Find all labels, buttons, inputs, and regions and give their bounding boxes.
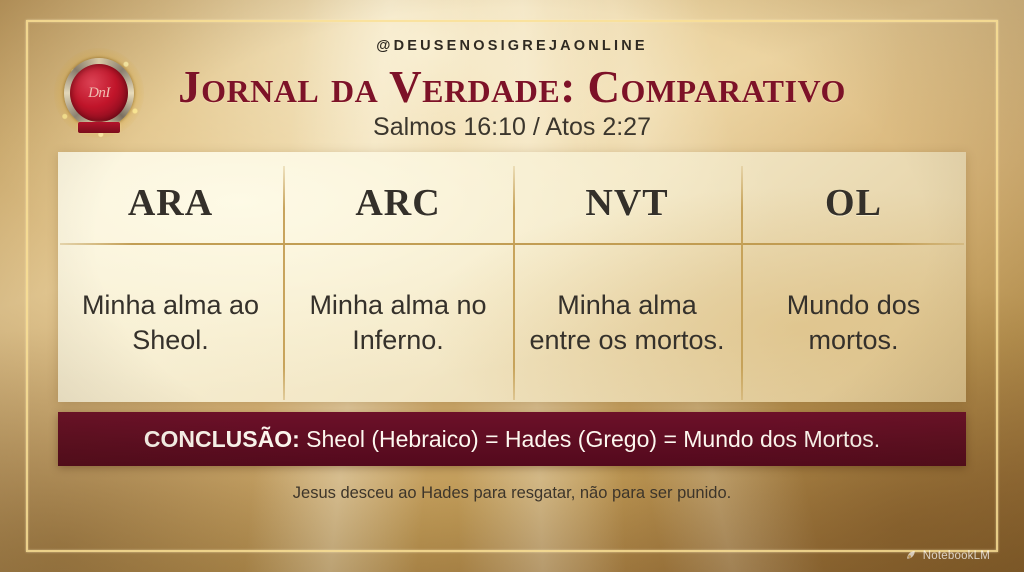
notebooklm-icon xyxy=(905,549,918,562)
column-header-ol: OL xyxy=(741,168,966,238)
table-header-divider xyxy=(60,243,964,245)
footnote-text: Jesus desceu ao Hades para resgatar, não… xyxy=(0,484,1024,503)
conclusion-banner: CONCLUSÃO: Sheol (Hebraico) = Hades (Gre… xyxy=(58,412,966,466)
comparison-table: ARA ARC NVT OL Minha alma ao Sheol. Minh… xyxy=(58,152,966,402)
column-header-arc: ARC xyxy=(283,168,513,238)
notebooklm-watermark: NotebookLM xyxy=(905,549,990,562)
column-header-nvt: NVT xyxy=(513,168,741,238)
scripture-reference: Salmos 16:10 / Atos 2:27 xyxy=(0,113,1024,142)
slide-canvas: DnI @DEUSENOSIGREJAONLINE Jornal da Verd… xyxy=(0,0,1024,572)
table-cell-arc: Minha alma no Inferno. xyxy=(283,247,513,399)
conclusion-label: CONCLUSÃO: xyxy=(144,426,300,452)
notebooklm-label: NotebookLM xyxy=(923,550,990,562)
table-cell-ara: Minha alma ao Sheol. xyxy=(58,247,283,399)
table-cell-nvt: Minha alma entre os mortos. xyxy=(513,247,741,399)
social-handle: @DEUSENOSIGREJAONLINE xyxy=(0,38,1024,54)
table-cell-ol: Mundo dos mortos. xyxy=(741,247,966,399)
column-header-ara: ARA xyxy=(58,168,283,238)
page-title: Jornal da Verdade: Comparativo xyxy=(0,62,1024,112)
conclusion-body: Sheol (Hebraico) = Hades (Grego) = Mundo… xyxy=(306,426,880,452)
conclusion-text: CONCLUSÃO: Sheol (Hebraico) = Hades (Gre… xyxy=(144,426,880,453)
